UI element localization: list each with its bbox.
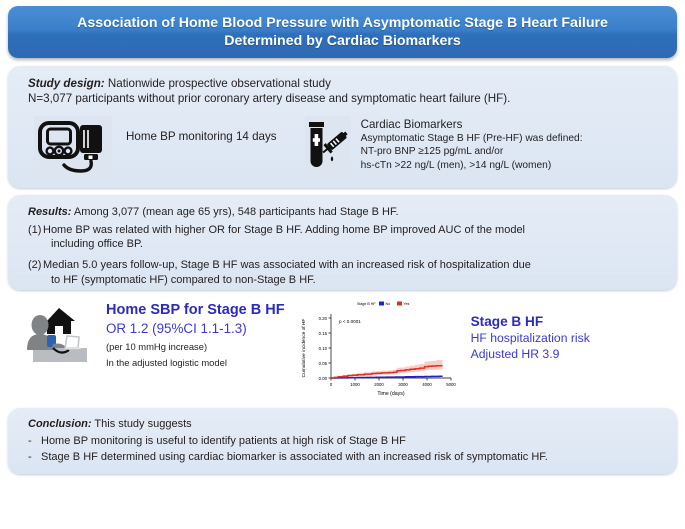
study-design-label: Study design: <box>28 77 105 90</box>
results-item-2: (2) Median 5.0 years follow-up, Stage B … <box>28 258 677 287</box>
results-item-1: (1) Home BP was related with higher OR f… <box>28 223 677 252</box>
conclusion-item-1-text: Home BP monitoring is useful to identify… <box>41 434 406 449</box>
findings-row: Home SBP for Stage B HF OR 1.2 (95%CI 1.… <box>8 292 677 402</box>
svg-text:2000: 2000 <box>374 382 384 387</box>
svg-text:No: No <box>385 302 390 306</box>
home-sbp-findings: Home SBP for Stage B HF OR 1.2 (95%CI 1.… <box>106 302 285 369</box>
results-item-1-number: (1) <box>28 223 43 252</box>
cumulative-incidence-chart: 0.000.050.100.150.2001000200030004000500… <box>297 296 457 400</box>
stage-b-findings: Stage B HF HF hospitalization risk Adjus… <box>471 314 590 363</box>
results-label: Results: <box>28 206 71 218</box>
results-item-2-line-2: to HF (symptomatic HF) compared to non-S… <box>43 273 677 288</box>
home-sbp-note-1: (per 10 mmHg increase) <box>106 340 285 353</box>
home-bp-monitoring-label: Home BP monitoring 14 days <box>126 130 277 178</box>
results-item-1-line-2: including office BP. <box>43 237 677 252</box>
conclusion-item-1-dash: - <box>28 434 41 449</box>
person-home-bp-icon <box>20 300 94 370</box>
results-item-2-number: (2) <box>28 258 43 287</box>
svg-text:0.15: 0.15 <box>318 331 327 336</box>
study-design-text-1: Nationwide prospective observational stu… <box>108 77 331 90</box>
study-design-line-1: Study design: Nationwide prospective obs… <box>28 76 677 91</box>
svg-text:0.05: 0.05 <box>318 361 327 366</box>
svg-text:Time (days): Time (days) <box>377 391 404 397</box>
conclusion-panel: Conclusion: This study suggests - Home B… <box>8 408 677 474</box>
home-sbp-or-value: OR 1.2 (95%CI 1.1-1.3) <box>106 320 285 338</box>
page-title: Association of Home Blood Pressure with … <box>47 14 638 50</box>
conclusion-item-1: - Home BP monitoring is useful to identi… <box>28 434 677 449</box>
conclusion-item-2: - Stage B HF determined using cardiac bi… <box>28 450 677 465</box>
home-sbp-note-2: In the adjusted logistic model <box>106 356 285 369</box>
study-design-icon-row: Home BP monitoring 14 days <box>28 116 677 178</box>
svg-text:0.10: 0.10 <box>318 346 327 351</box>
biomarker-line-3: hs-cTn >22 ng/L (men), >14 ng/L (women) <box>361 159 583 173</box>
bp-monitor-icon <box>34 116 112 178</box>
stage-b-line-1: HF hospitalization risk <box>471 331 590 347</box>
svg-text:Yes: Yes <box>403 302 409 306</box>
title-line-2: Determined by Cardiac Biomarkers <box>224 33 461 49</box>
svg-text:0.20: 0.20 <box>318 316 327 321</box>
conclusion-item-2-dash: - <box>28 450 41 465</box>
biomarker-line-2: NT-pro BNP ≥125 pg/mL and/or <box>361 145 583 159</box>
graphical-abstract: Association of Home Blood Pressure with … <box>0 6 685 529</box>
study-design-line-2: N=3,077 participants without prior coron… <box>28 91 677 106</box>
conclusion-label: Conclusion: <box>28 418 92 430</box>
svg-text:Cumulative incidence of HF: Cumulative incidence of HF <box>301 319 307 378</box>
results-item-2-line-1: Median 5.0 years follow-up, Stage B HF w… <box>43 258 677 273</box>
stage-b-heading: Stage B HF <box>471 314 590 331</box>
conclusion-item-2-text: Stage B HF determined using cardiac biom… <box>41 450 548 465</box>
conclusion-intro-line: Conclusion: This study suggests <box>28 417 677 432</box>
cardiac-biomarkers-block: Cardiac Biomarkers Asymptomatic Stage B … <box>361 118 583 178</box>
svg-text:4000: 4000 <box>422 382 432 387</box>
home-sbp-heading: Home SBP for Stage B HF <box>106 302 285 319</box>
blood-tube-syringe-icon <box>305 116 351 178</box>
results-item-1-line-1: Home BP was related with higher OR for S… <box>43 223 677 238</box>
title-line-1: Association of Home Blood Pressure with … <box>77 15 608 31</box>
title-banner: Association of Home Blood Pressure with … <box>8 6 677 58</box>
study-design-panel: Study design: Nationwide prospective obs… <box>8 66 677 188</box>
conclusion-item-1-rest: is useful to identify patients at high r… <box>142 435 406 447</box>
svg-text:p < 0.0001: p < 0.0001 <box>339 319 361 324</box>
biomarker-line-1: Asymptomatic Stage B HF (Pre-HF) was def… <box>361 132 583 146</box>
svg-text:3000: 3000 <box>398 382 408 387</box>
cardiac-biomarkers-heading: Cardiac Biomarkers <box>361 118 583 131</box>
conclusion-item-1-emphasis: Home BP monitoring <box>41 435 142 447</box>
stage-b-line-2: Adjusted HR 3.9 <box>471 347 590 363</box>
svg-text:0: 0 <box>329 382 332 387</box>
svg-text:0.00: 0.00 <box>318 376 327 381</box>
svg-text:Stage B HF: Stage B HF <box>357 302 376 306</box>
results-panel: Results: Among 3,077 (mean age 65 yrs), … <box>8 195 677 290</box>
svg-text:5000: 5000 <box>446 382 456 387</box>
conclusion-intro-text: This study suggests <box>94 418 191 430</box>
results-intro-line: Results: Among 3,077 (mean age 65 yrs), … <box>28 205 677 220</box>
results-intro-text: Among 3,077 (mean age 65 yrs), 548 parti… <box>74 206 399 218</box>
svg-text:1000: 1000 <box>350 382 360 387</box>
